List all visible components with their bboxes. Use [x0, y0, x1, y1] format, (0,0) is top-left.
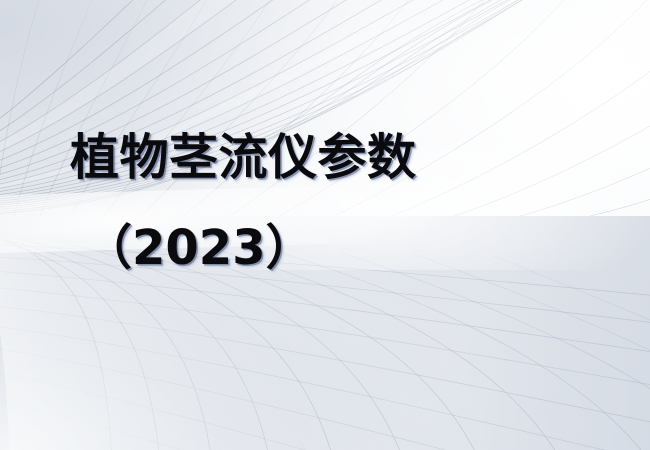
slide-subtitle-year: （2023） — [84, 222, 314, 276]
slide-text-block: 植物茎流仪参数 （2023） — [0, 0, 650, 450]
slide-title: 植物茎流仪参数 — [70, 131, 417, 186]
presentation-slide: 植物茎流仪参数 （2023） — [0, 0, 650, 450]
